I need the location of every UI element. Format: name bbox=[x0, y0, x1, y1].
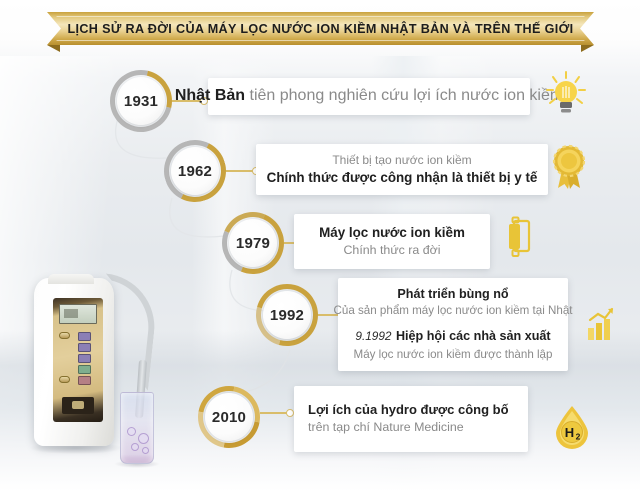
year-label: 2010 bbox=[212, 409, 246, 426]
panel-button bbox=[78, 376, 91, 385]
card-line-1: Máy lọc nước ion kiềm bbox=[319, 224, 465, 243]
panel-button bbox=[78, 332, 91, 341]
card-line-2: Của sản phẩm máy lọc nước ion kiềm tại N… bbox=[334, 303, 573, 319]
card-line-1: Thiết bị tạo nước ion kiềm bbox=[332, 152, 471, 169]
panel-knob bbox=[59, 332, 70, 339]
card-line-4: Máy lọc nước ion kiềm được thành lập bbox=[354, 347, 553, 363]
growth-bar-chart-icon bbox=[578, 306, 616, 349]
year-circle-1931[interactable]: 1931 bbox=[110, 70, 172, 132]
bubble bbox=[127, 427, 136, 436]
connector-stem bbox=[226, 170, 254, 172]
product-photo bbox=[34, 272, 152, 468]
year-circle-1992[interactable]: 1992 bbox=[256, 284, 318, 346]
year-disc: 1962 bbox=[171, 147, 219, 195]
year-disc: 1979 bbox=[229, 219, 277, 267]
bubble bbox=[138, 433, 149, 444]
hydrogen-subscript: 2 bbox=[576, 432, 581, 442]
lightbulb-icon bbox=[545, 70, 587, 123]
medal-ribbon-icon bbox=[549, 144, 589, 195]
panel-button bbox=[78, 343, 91, 352]
year-circle-1979[interactable]: 1979 bbox=[222, 212, 284, 274]
card-line-2: Chính thức được công nhận là thiết bị y … bbox=[267, 169, 538, 188]
bubble bbox=[131, 443, 139, 451]
panel-button bbox=[78, 365, 91, 374]
filter-cartridge-icon bbox=[504, 216, 536, 265]
connector-dot bbox=[286, 409, 294, 417]
card-line: Nhật Bản tiên phong nghiên cứu lợi ích n… bbox=[175, 85, 563, 107]
year-label: 1992 bbox=[270, 307, 304, 324]
page-title: LỊCH SỬ RA ĐỜI CỦA MÁY LỌC NƯỚC ION KIỀM… bbox=[47, 12, 594, 45]
hydrogen-symbol: H bbox=[565, 425, 574, 440]
card-line-2: Chính thức ra đời bbox=[343, 242, 440, 259]
card-text-regular: tiên phong nghiên cứu lợi ích nước ion k… bbox=[250, 87, 564, 104]
year-label: 1962 bbox=[178, 163, 212, 180]
card-line-1: Phát triển bùng nổ bbox=[397, 286, 508, 303]
ionizer-machine-body bbox=[34, 278, 114, 446]
bubble bbox=[142, 447, 149, 454]
year-disc: 1931 bbox=[117, 77, 165, 125]
timeline-card-2010[interactable]: Lợi ích của hydro được công bố trên tạp … bbox=[294, 386, 528, 452]
timeline-card-1992[interactable]: Phát triển bùng nổ Của sản phẩm máy lọc … bbox=[338, 278, 568, 371]
card-line-1: Lợi ích của hydro được công bố bbox=[308, 401, 509, 419]
brand-plate bbox=[62, 397, 94, 414]
timeline-card-1962[interactable]: Thiết bị tạo nước ion kiềm Chính thức đư… bbox=[256, 144, 548, 195]
machine-top-cap bbox=[48, 274, 94, 284]
card-line-2: trên tạp chí Nature Medicine bbox=[308, 419, 464, 436]
year-disc: 1992 bbox=[263, 291, 311, 339]
water-glass bbox=[120, 392, 154, 464]
card-text-bold: Hiệp hội các nhà sản xuất bbox=[396, 329, 551, 343]
year-disc: 2010 bbox=[205, 393, 253, 441]
timeline-card-1979[interactable]: Máy lọc nước ion kiềm Chính thức ra đời bbox=[294, 214, 490, 269]
timeline-card-1931[interactable]: Nhật Bản tiên phong nghiên cứu lợi ích n… bbox=[208, 78, 530, 115]
card-text-bold: Nhật Bản bbox=[175, 87, 245, 104]
panel-button bbox=[78, 354, 91, 363]
year-label: 1979 bbox=[236, 235, 270, 252]
connector-stem bbox=[260, 412, 288, 414]
control-panel bbox=[53, 298, 103, 422]
card-line-3: 9.1992 Hiệp hội các nhà sản xuất bbox=[355, 325, 550, 347]
lcd-display bbox=[59, 304, 97, 324]
year-circle-2010[interactable]: 2010 bbox=[198, 386, 260, 448]
year-label: 1931 bbox=[124, 93, 158, 110]
hydrogen-droplet-icon: H 2 bbox=[552, 404, 592, 455]
year-circle-1962[interactable]: 1962 bbox=[164, 140, 226, 202]
title-banner: LỊCH SỬ RA ĐỜI CỦA MÁY LỌC NƯỚC ION KIỀM… bbox=[47, 12, 594, 45]
panel-knob bbox=[59, 376, 70, 383]
card-date-italic: 9.1992 bbox=[355, 329, 391, 343]
